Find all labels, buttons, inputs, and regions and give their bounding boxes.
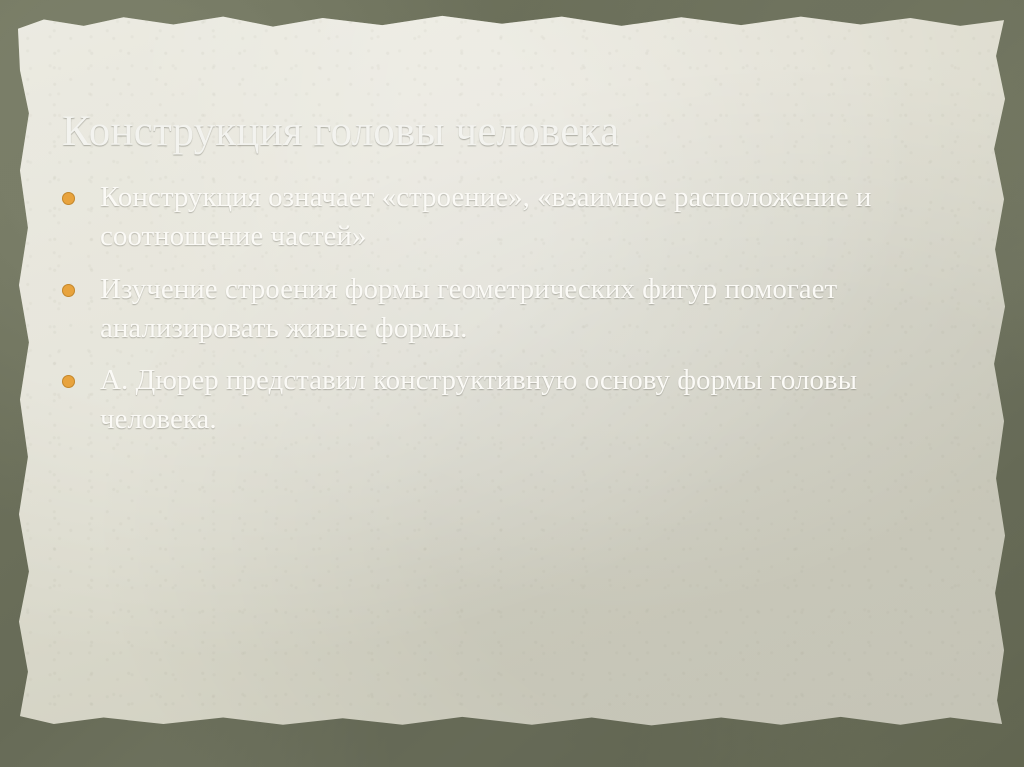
slide-content: Конструкция головы человека Конструкция … [0, 0, 1024, 767]
list-item: Конструкция означает «строение», «взаимн… [46, 178, 976, 256]
presentation-slide: Конструкция головы человека Конструкция … [0, 0, 1024, 767]
bullet-dot-icon [62, 192, 75, 205]
bullet-dot-icon [62, 284, 75, 297]
list-item-text: Конструкция означает «строение», «взаимн… [100, 181, 871, 252]
page-title: Конструкция головы человека [62, 107, 952, 156]
bullet-dot-icon [62, 375, 75, 388]
list-item-text: Изучение строения формы геометрических ф… [100, 273, 837, 344]
bullet-list: Конструкция означает «строение», «взаимн… [46, 178, 976, 453]
list-item: А. Дюрер представил конструктивную основ… [46, 361, 976, 439]
list-item: Изучение строения формы геометрических ф… [46, 270, 976, 348]
list-item-text: А. Дюрер представил конструктивную основ… [100, 364, 857, 435]
